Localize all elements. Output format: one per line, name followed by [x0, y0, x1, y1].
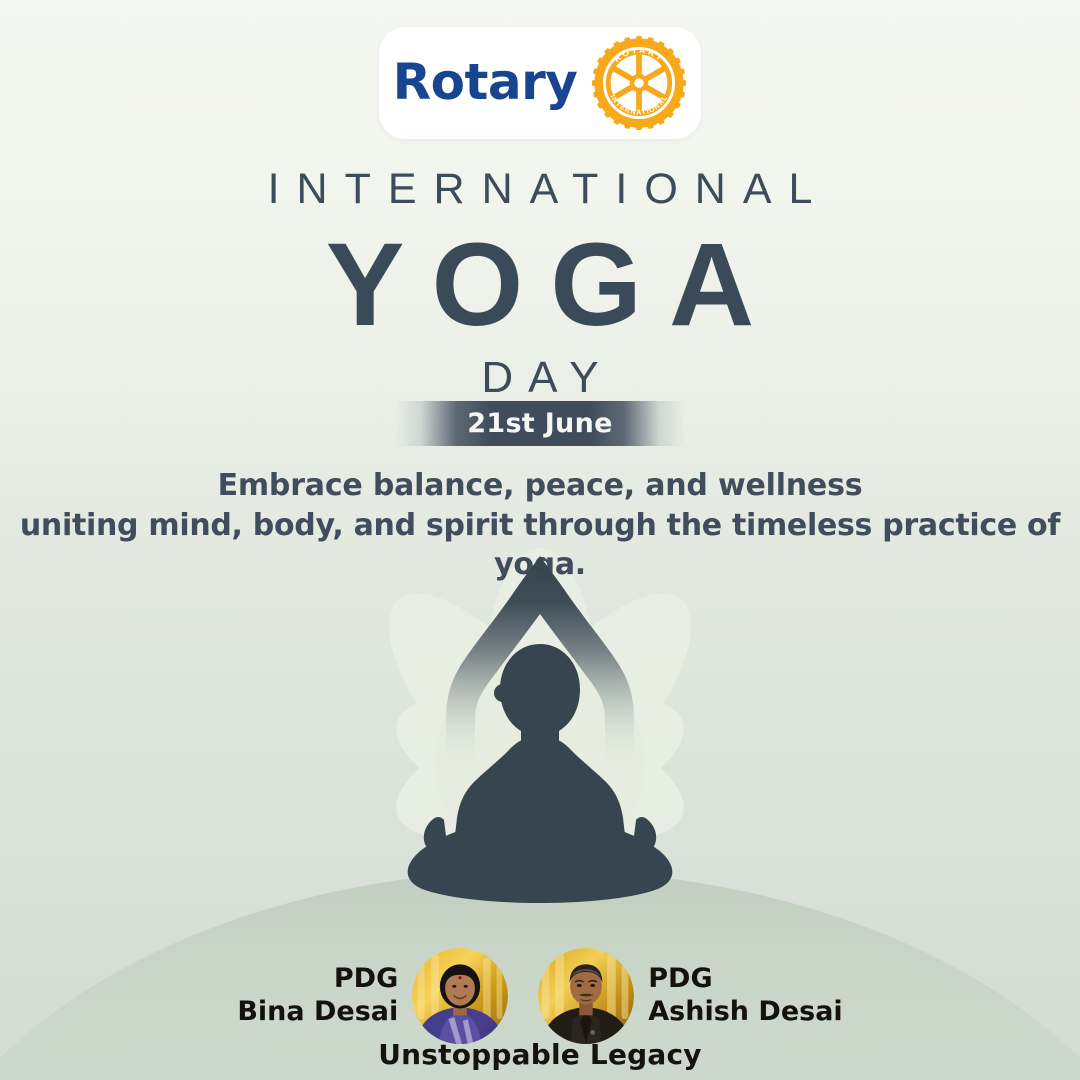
credit-person-left: Bina Desai: [237, 996, 398, 1029]
credit-ashish-desai: PDG Ashish Desai: [538, 948, 842, 1044]
page-title: INTERNATIONAL YOGA DAY: [0, 168, 1080, 400]
title-line-yoga: YOGA: [0, 217, 1080, 354]
rotary-gear-icon: ROTARY INTERNATIONAL: [591, 35, 687, 131]
avatar-bina-desai: [412, 948, 508, 1044]
rotary-wordmark: Rotary: [393, 57, 578, 107]
meditating-yogi-silhouette: [340, 548, 740, 948]
credit-name-left: PDG Bina Desai: [237, 963, 398, 1029]
credit-person-right: Ashish Desai: [648, 996, 842, 1029]
rotary-logo: Rotary: [379, 27, 701, 139]
credit-role-right: PDG: [648, 963, 842, 996]
date-badge-text: 21st June: [467, 408, 612, 439]
title-line-international: INTERNATIONAL: [0, 168, 1080, 211]
credit-bina-desai: PDG Bina Desai: [237, 948, 508, 1044]
title-line-day: DAY: [0, 356, 1080, 400]
poster-canvas: Rotary: [0, 0, 1080, 1080]
date-badge: 21st June: [395, 401, 685, 446]
credit-name-right: PDG Ashish Desai: [648, 963, 842, 1029]
credits-row: PDG Bina Desai: [0, 948, 1080, 1044]
credit-role-left: PDG: [237, 963, 398, 996]
footer-slogan: Unstoppable Legacy: [0, 1038, 1080, 1071]
tagline-line-1: Embrace balance, peace, and wellness: [0, 466, 1080, 506]
avatar-ashish-desai: [538, 948, 634, 1044]
